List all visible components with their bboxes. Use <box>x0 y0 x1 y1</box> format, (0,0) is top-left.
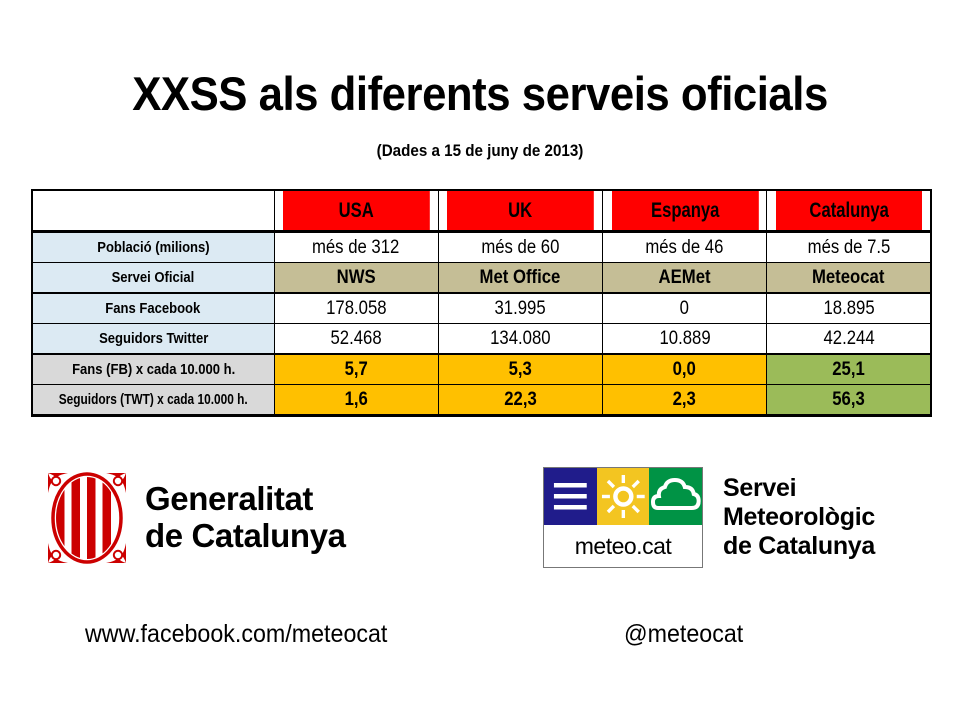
fog-lines-icon <box>544 468 597 525</box>
cell-poblacio-catalunya: més de 7.5 <box>767 232 931 263</box>
table-row-fans-per-10000: Fans (FB) x cada 10.000 h. 5,7 5,3 0,0 2… <box>32 354 931 385</box>
cell-servei-espanya: AEMet <box>603 263 767 294</box>
row-label-seguidors-twitter: Seguidors Twitter <box>32 324 274 355</box>
row-label-fans-per-10000-text: Fans (FB) x cada 10.000 h. <box>72 362 235 378</box>
cell-ratio-fb-uk: 5,3 <box>438 354 602 385</box>
generalitat-emblem-icon <box>45 470 129 566</box>
table-corner-cell <box>32 190 274 232</box>
twitter-handle[interactable]: @meteocat <box>624 620 743 649</box>
generalitat-line1: Generalitat <box>145 481 346 518</box>
row-label-seguidors-per-10000: Seguidors (TWT) x cada 10.000 h. <box>32 385 274 416</box>
cell-ratio-tw-uk: 22,3 <box>438 385 602 416</box>
page-title: XXSS als diferents serveis oficials <box>34 66 927 121</box>
cell-servei-usa: NWS <box>274 263 438 294</box>
column-header-catalunya-label: Catalunya <box>809 199 888 223</box>
cell-ratio-fb-catalunya: 25,1 <box>767 354 931 385</box>
column-header-uk-label: UK <box>508 199 532 223</box>
table-row-seguidors-twitter: Seguidors Twitter 52.468 134.080 10.889 … <box>32 324 931 355</box>
column-header-uk: UK <box>446 190 594 232</box>
meteocat-mark: meteo.cat <box>543 467 703 568</box>
cloud-icon <box>649 468 702 525</box>
stats-table-container: USA UK Espanya Catalunya Població (milio… <box>31 189 930 417</box>
cell-servei-uk: Met Office <box>438 263 602 294</box>
cell-ratio-tw-usa: 1,6 <box>274 385 438 416</box>
table-row-fans-facebook: Fans Facebook 178.058 31.995 0 18.895 <box>32 293 931 324</box>
cell-twitter-uk: 134.080 <box>438 324 602 355</box>
table-row-poblacio: Població (milions) més de 312 més de 60 … <box>32 232 931 263</box>
page-subtitle: (Dades a 15 de juny de 2013) <box>38 142 921 161</box>
meteocat-line2: Meteorològic <box>723 503 875 532</box>
logo-row: Generalitat de Catalunya <box>0 462 960 587</box>
meteocat-servei-text: Servei Meteorològic de Catalunya <box>723 474 875 561</box>
social-media-stats-table: USA UK Espanya Catalunya Població (milio… <box>31 189 932 417</box>
row-label-poblacio: Població (milions) <box>32 232 274 263</box>
row-label-servei-oficial: Servei Oficial <box>32 263 274 294</box>
cell-ratio-tw-catalunya: 56,3 <box>767 385 931 416</box>
cell-twitter-usa: 52.468 <box>274 324 438 355</box>
cell-fans-usa: 178.058 <box>274 293 438 324</box>
column-header-usa: USA <box>282 190 430 232</box>
row-label-seguidors-per-10000-text: Seguidors (TWT) x cada 10.000 h. <box>59 392 248 408</box>
meteocat-wordmark: meteo.cat <box>544 525 702 567</box>
generalitat-line2: de Catalunya <box>145 518 346 555</box>
row-label-fans-per-10000: Fans (FB) x cada 10.000 h. <box>32 354 274 385</box>
column-header-catalunya: Catalunya <box>775 190 923 232</box>
meteocat-line1: Servei <box>723 474 875 503</box>
cell-ratio-tw-espanya: 2,3 <box>603 385 767 416</box>
generalitat-logo: Generalitat de Catalunya <box>45 470 346 566</box>
cell-servei-catalunya: Meteocat <box>767 263 931 294</box>
cell-poblacio-espanya: més de 46 <box>603 232 767 263</box>
row-label-fans-facebook-text: Fans Facebook <box>106 301 201 317</box>
footer-links: www.facebook.com/meteocat @meteocat <box>0 620 960 660</box>
cell-fans-uk: 31.995 <box>438 293 602 324</box>
row-label-fans-facebook: Fans Facebook <box>32 293 274 324</box>
cell-ratio-fb-espanya: 0,0 <box>603 354 767 385</box>
row-label-seguidors-twitter-text: Seguidors Twitter <box>99 331 208 347</box>
column-header-espanya-label: Espanya <box>650 199 718 223</box>
table-row-seguidors-per-10000: Seguidors (TWT) x cada 10.000 h. 1,6 22,… <box>32 385 931 416</box>
sun-icon <box>597 468 650 525</box>
table-header-row: USA UK Espanya Catalunya <box>32 190 931 232</box>
meteocat-icon-bands <box>544 468 702 525</box>
column-header-espanya: Espanya <box>611 190 759 232</box>
column-header-usa-label: USA <box>339 199 374 223</box>
cell-twitter-catalunya: 42.244 <box>767 324 931 355</box>
cell-poblacio-usa: més de 312 <box>274 232 438 263</box>
cell-twitter-espanya: 10.889 <box>603 324 767 355</box>
facebook-link[interactable]: www.facebook.com/meteocat <box>85 620 387 649</box>
row-label-servei-oficial-text: Servei Oficial <box>112 270 195 286</box>
generalitat-wordmark: Generalitat de Catalunya <box>145 481 346 555</box>
cell-ratio-fb-usa: 5,7 <box>274 354 438 385</box>
cell-fans-espanya: 0 <box>603 293 767 324</box>
cell-poblacio-uk: més de 60 <box>438 232 602 263</box>
cell-fans-catalunya: 18.895 <box>767 293 931 324</box>
table-row-servei-oficial: Servei Oficial NWS Met Office AEMet Mete… <box>32 263 931 294</box>
row-label-poblacio-text: Població (milions) <box>97 240 209 256</box>
meteocat-line3: de Catalunya <box>723 532 875 561</box>
meteocat-logo: meteo.cat Servei Meteorològic de Catalun… <box>543 467 875 568</box>
